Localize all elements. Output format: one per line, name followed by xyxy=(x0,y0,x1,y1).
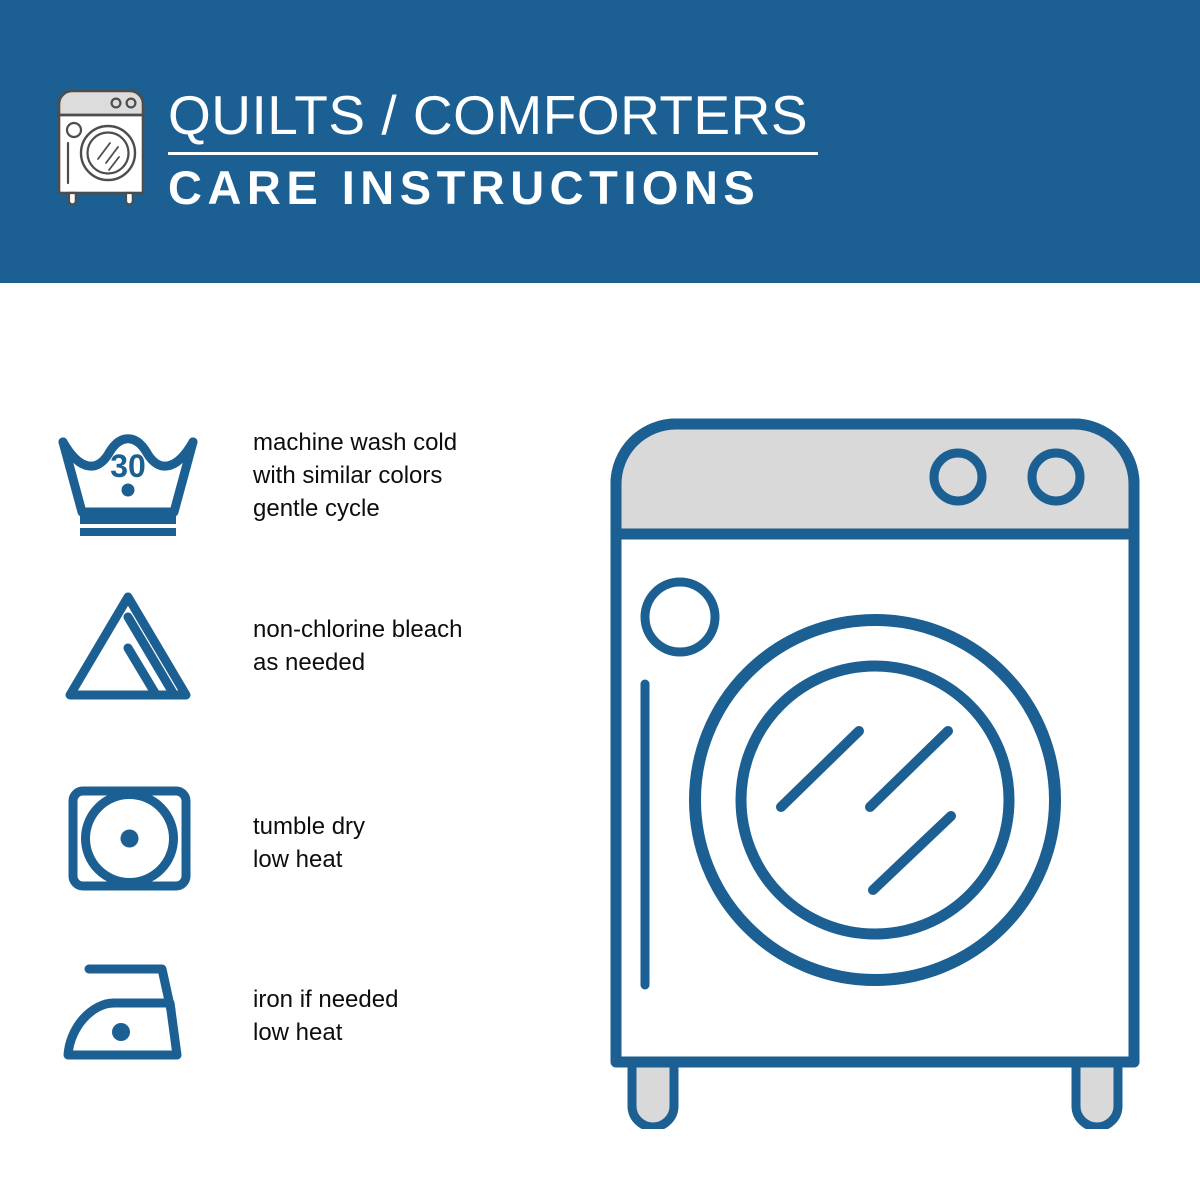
machine-wash-tub-icon: 30 xyxy=(58,420,203,540)
care-line: machine wash cold xyxy=(253,426,457,459)
care-line: as needed xyxy=(253,646,462,679)
wash-temperature-label: 30 xyxy=(110,448,146,484)
care-line: low heat xyxy=(253,1016,398,1049)
washing-machine-illustration xyxy=(596,404,1166,1129)
care-line: with similar colors xyxy=(253,459,457,492)
care-line: tumble dry xyxy=(253,810,365,843)
care-text-bleach: non-chlorine bleach as needed xyxy=(253,613,462,679)
care-instruction-list: 30 machine wash cold with similar colors… xyxy=(0,0,540,1200)
care-line: iron if needed xyxy=(253,983,398,1016)
care-text-tumble-dry: tumble dry low heat xyxy=(253,810,365,876)
care-line: low heat xyxy=(253,843,365,876)
care-instructions-page: QUILTS / COMFORTERS CARE INSTRUCTIONS 30 xyxy=(0,0,1200,1200)
non-chlorine-bleach-triangle-icon xyxy=(58,585,203,705)
tumble-dry-low-heat-icon xyxy=(58,782,203,902)
care-text-iron: iron if needed low heat xyxy=(253,983,398,1049)
iron-low-heat-icon xyxy=(58,955,203,1075)
care-line: gentle cycle xyxy=(253,492,457,525)
care-line: non-chlorine bleach xyxy=(253,613,462,646)
care-text-machine-wash: machine wash cold with similar colors ge… xyxy=(253,426,457,525)
